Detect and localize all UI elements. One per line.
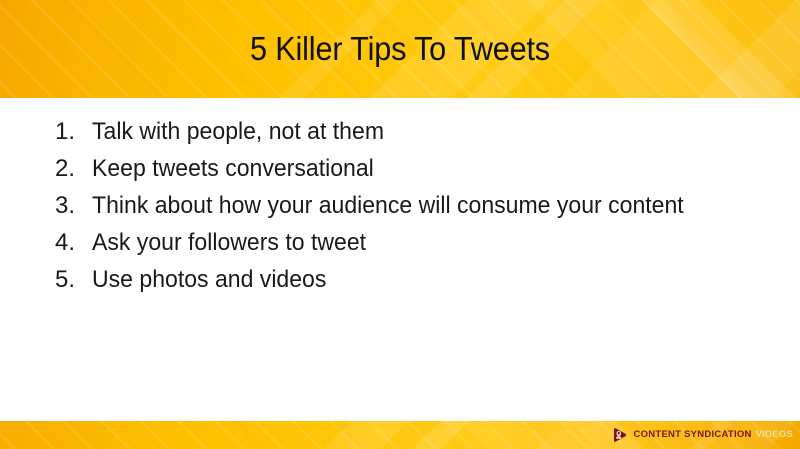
slide-title: 5 Killer Tips To Tweets [28, 0, 772, 98]
slide-header-band: 5 Killer Tips To Tweets [0, 0, 800, 98]
brand-wordmark: CONTENT SYNDICATION VIDEOS [634, 430, 793, 440]
list-item: 4. Ask your followers to tweet [55, 229, 708, 266]
brand-name-secondary: VIDEOS [756, 430, 793, 440]
tips-list: 1. Talk with people, not at them 2. Keep… [55, 118, 708, 303]
list-item: 3. Think about how your audience will co… [55, 192, 708, 229]
list-item-number: 3. [55, 192, 92, 220]
list-item: 5. Use photos and videos [55, 266, 708, 303]
footer-ribbon [272, 421, 428, 449]
list-item-label: Talk with people, not at them [92, 118, 384, 146]
presentation-slide: 5 Killer Tips To Tweets 1. Talk with peo… [0, 0, 800, 449]
list-item: 1. Talk with people, not at them [55, 118, 708, 155]
list-item-label: Keep tweets conversational [92, 155, 374, 183]
brand-logo: CONTENT SYNDICATION VIDEOS [611, 421, 793, 449]
list-item-number: 5. [55, 266, 92, 294]
list-item-number: 4. [55, 229, 92, 257]
list-item: 2. Keep tweets conversational [55, 155, 708, 192]
play-triangle-icon [611, 427, 628, 444]
list-item-label: Use photos and videos [92, 266, 326, 294]
list-item-label: Ask your followers to tweet [92, 229, 366, 257]
slide-footer-band: CONTENT SYNDICATION VIDEOS [0, 421, 800, 449]
brand-name-primary: CONTENT SYNDICATION [634, 430, 752, 440]
list-item-label: Think about how your audience will consu… [92, 192, 684, 220]
list-item-number: 2. [55, 155, 92, 183]
slide-content-area: 1. Talk with people, not at them 2. Keep… [0, 98, 800, 421]
list-item-number: 1. [55, 118, 92, 146]
